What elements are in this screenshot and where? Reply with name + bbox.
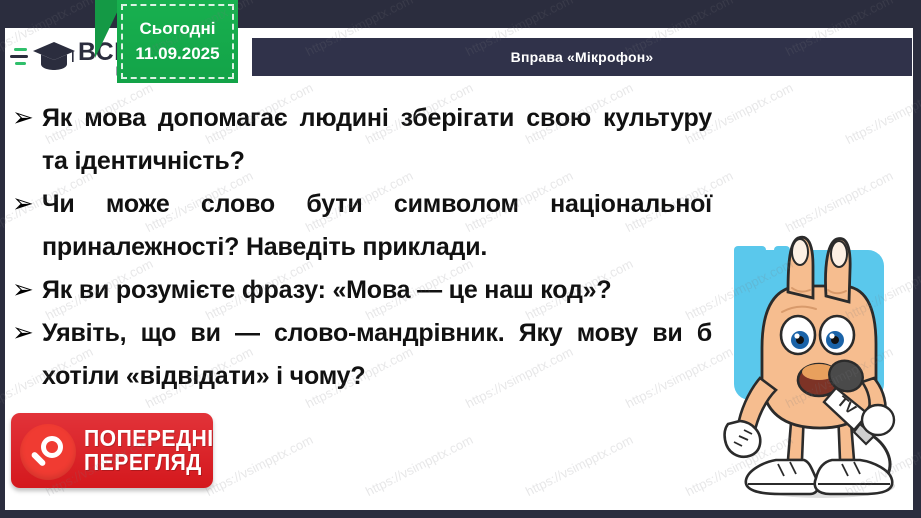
list-item-text: Як ви розумієте фразу: «Мова — це наш ко… [42,269,712,312]
preview-badge-line2: ПЕРЕГЛЯД [84,451,213,474]
graduation-cap-icon [32,40,76,74]
date-label: Сьогодні [140,19,216,39]
preview-badge-line1: ПОПЕРЕДНІЙ [84,427,213,450]
arrow-bullet-icon: ➢ [12,97,42,140]
peace-hand-character: TV [718,228,914,510]
slide-title-bar: Вправа «Мікрофон» [252,38,912,76]
preview-badge[interactable]: ПОПЕРЕДНІЙ ПЕРЕГЛЯД [11,413,213,488]
arrow-bullet-icon: ➢ [12,183,42,226]
list-item: ➢ Як мова допомагає людині зберігати сво… [12,97,712,183]
arrow-bullet-icon: ➢ [12,269,42,312]
date-banner: Сьогодні 11.09.2025 [117,0,238,83]
preview-badge-text: ПОПЕРЕДНІЙ ПЕРЕГЛЯД [84,427,213,474]
list-item-text: Чи може слово бути символом національної… [42,183,712,269]
question-list: ➢ Як мова допомагає людині зберігати сво… [12,97,712,398]
slide-root: ВСІМ pptx Сьогодні 11.09.2025 Вправа «Мі… [0,0,921,518]
list-item: ➢ Чи може слово бути символом національн… [12,183,712,269]
list-item: ➢ Уявіть, що ви — слово-мандрівник. Яку … [12,312,712,398]
list-item-text: Як мова допомагає людині зберігати свою … [42,97,712,183]
magnifier-icon [14,416,84,486]
list-item: ➢ Як ви розумієте фразу: «Мова — це наш … [12,269,712,312]
list-item-text: Уявіть, що ви — слово-мандрівник. Яку мо… [42,312,712,398]
date-value: 11.09.2025 [135,44,219,64]
arrow-bullet-icon: ➢ [12,312,42,355]
page-title: Вправа «Мікрофон» [511,49,654,65]
